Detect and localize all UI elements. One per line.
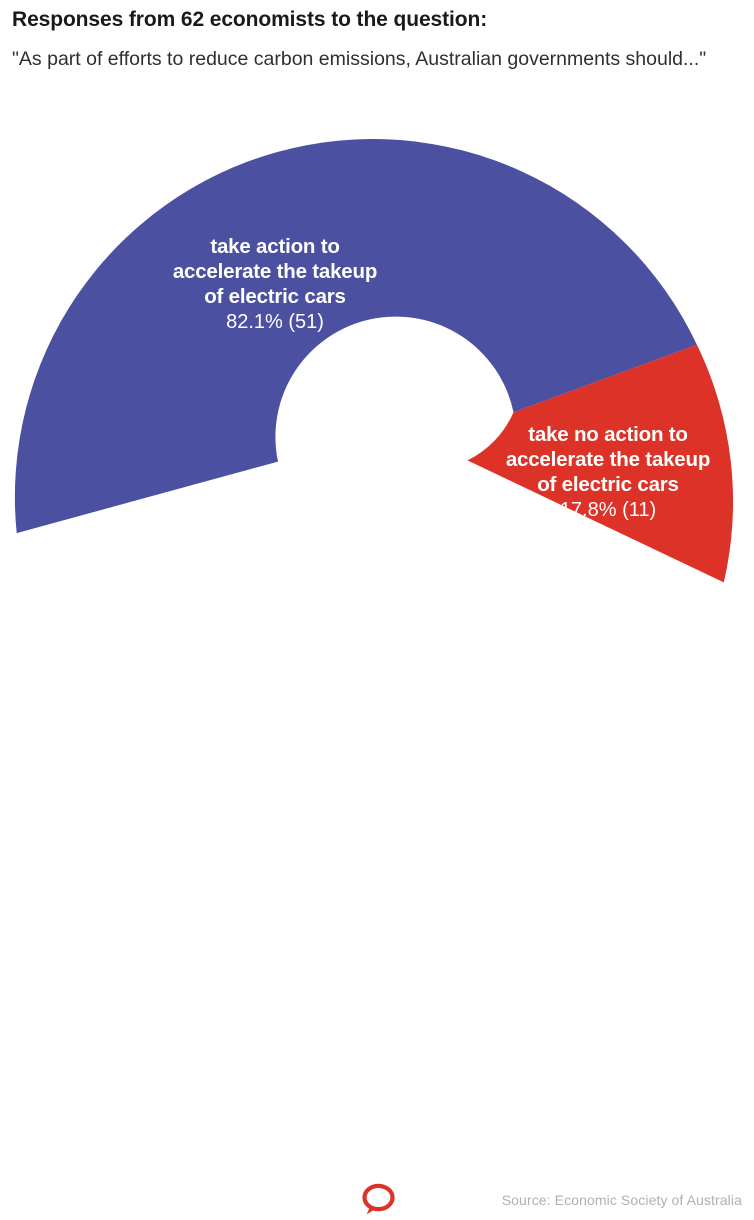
chart-container: Responses from 62 economists to the ques… <box>0 0 754 639</box>
chart-title: Responses from 62 economists to the ques… <box>12 6 742 34</box>
half-donut-chart <box>0 95 754 590</box>
chart-footer: Source: Economic Society of Australia <box>0 590 754 639</box>
chart-header: Responses from 62 economists to the ques… <box>12 6 742 74</box>
source-note: Source: Economic Society of Australia <box>502 1192 742 1208</box>
chart-subtitle: "As part of efforts to reduce carbon emi… <box>12 44 712 74</box>
plot-area <box>0 95 754 590</box>
speech-bubble-icon <box>358 1180 398 1220</box>
